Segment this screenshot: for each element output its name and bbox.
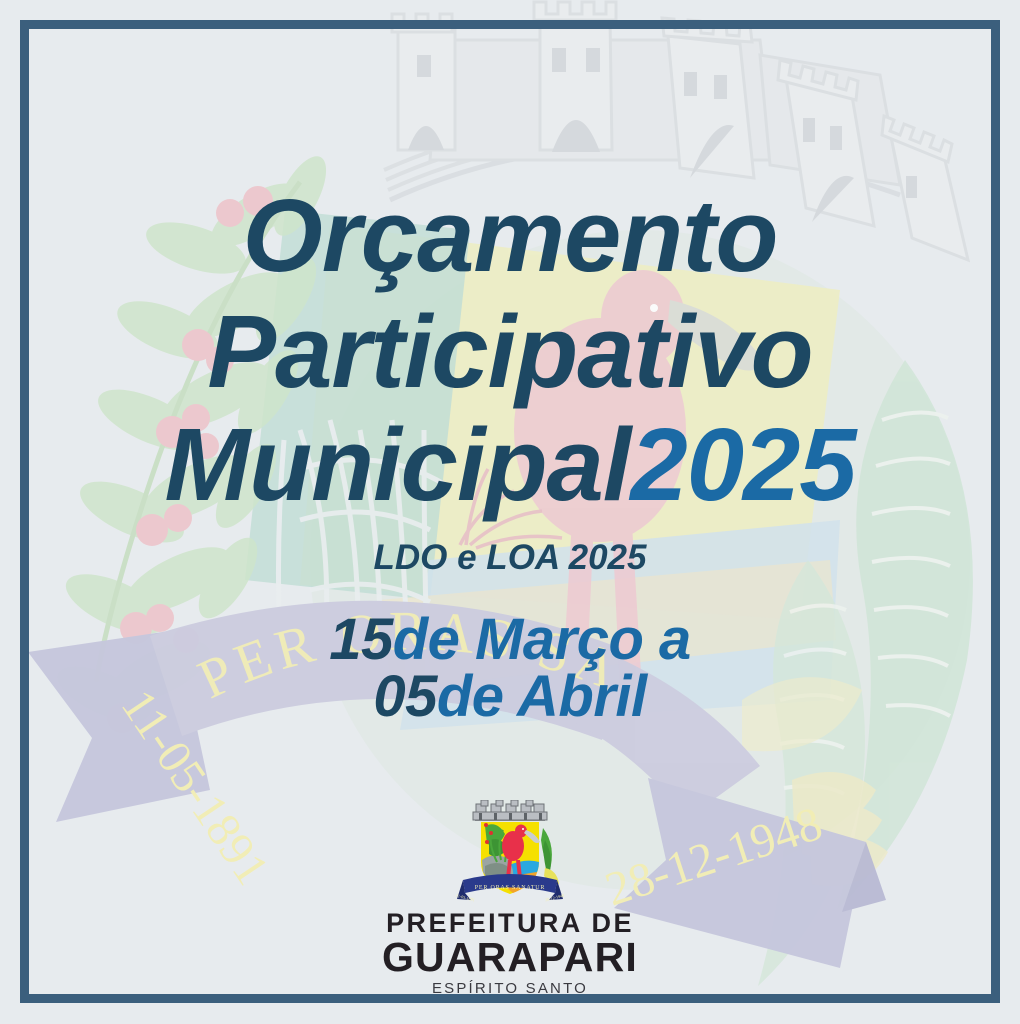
logo-prefeitura-label: PREFEITURA DE: [0, 909, 1020, 937]
crest-ribbon: PER ORAS SANATUR 11-05-1891 28-12-1948: [455, 874, 564, 902]
date-line-1: 15de Março a: [0, 611, 1020, 669]
headline-line-2: Participativo: [0, 300, 1020, 403]
guarapari-coat-of-arms-icon: PER ORAS SANATUR 11-05-1891 28-12-1948: [445, 800, 575, 906]
subtitle: LDO e LOA 2025: [0, 538, 1020, 578]
headline-year: 2025: [630, 407, 855, 522]
prefeitura-logo: PER ORAS SANATUR 11-05-1891 28-12-1948 P…: [0, 800, 1020, 997]
crest-date-left: 11-05-1891: [455, 893, 475, 903]
headline-line-1: Orçamento: [0, 184, 1020, 287]
date-start-day: 15: [329, 607, 393, 672]
headline-line-3-main: Municipal: [164, 407, 630, 522]
date-line-2: 05de Abril: [0, 668, 1020, 726]
mural-crown-icon: [473, 800, 547, 821]
logo-city-name: GUARAPARI: [0, 937, 1020, 978]
date-end-month: de Abril: [437, 664, 647, 729]
date-end-day: 05: [373, 664, 437, 729]
poster-content: Orçamento Participativo Municipal2025 LD…: [0, 0, 1020, 1024]
crest-date-right: 28-12-1948: [545, 893, 565, 903]
headline-line-3: Municipal2025: [0, 413, 1020, 516]
date-start-month: de Março a: [393, 607, 691, 672]
poster: PER ORAS SANATUR 11-05-1891 28-12-1948 O…: [0, 0, 1020, 1024]
logo-state-name: ESPÍRITO SANTO: [0, 980, 1020, 997]
crest-motto: PER ORAS SANATUR: [475, 885, 545, 891]
